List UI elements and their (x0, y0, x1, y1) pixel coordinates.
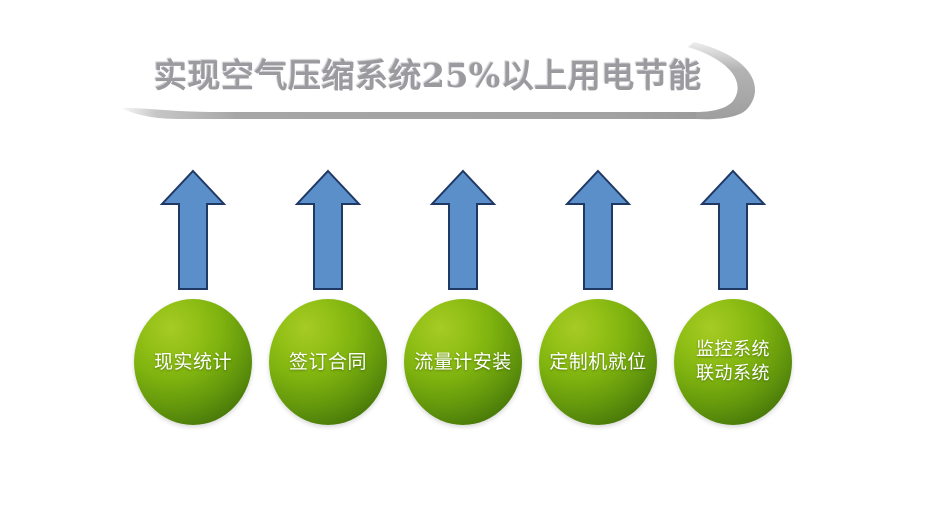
banner-baseline (122, 108, 696, 119)
arrows-row (0, 168, 945, 293)
step-circle-5[interactable]: 监控系统 联动系统 (674, 299, 792, 425)
up-arrow-icon-4 (564, 168, 632, 293)
presentation-slide: 实现空气压缩系统25%以上用电节能 (0, 0, 945, 529)
page-title: 实现空气压缩系统25%以上用电节能 (154, 48, 734, 104)
step-label-2: 签订合同 (286, 350, 370, 375)
up-arrow-icon-3 (429, 168, 497, 293)
step-label-5: 监控系统 联动系统 (693, 338, 773, 386)
up-arrow-icon-1 (159, 168, 227, 293)
up-arrow-icon-5 (699, 168, 767, 293)
step-circle-3[interactable]: 流量计安装 (404, 299, 522, 425)
title-banner: 实现空气压缩系统25%以上用电节能 (118, 34, 778, 134)
step-label-3: 流量计安装 (411, 350, 515, 375)
step-circle-1[interactable]: 现实统计 (134, 299, 252, 425)
step-label-4: 定制机就位 (546, 350, 650, 375)
step-label-1: 现实统计 (151, 350, 235, 375)
up-arrow-icon-2 (294, 168, 362, 293)
step-circle-2[interactable]: 签订合同 (269, 299, 387, 425)
step-circle-4[interactable]: 定制机就位 (539, 299, 657, 425)
steps-row: 现实统计 签订合同 流量计安装 定制机就位 监控系统 联动系统 (0, 299, 945, 425)
